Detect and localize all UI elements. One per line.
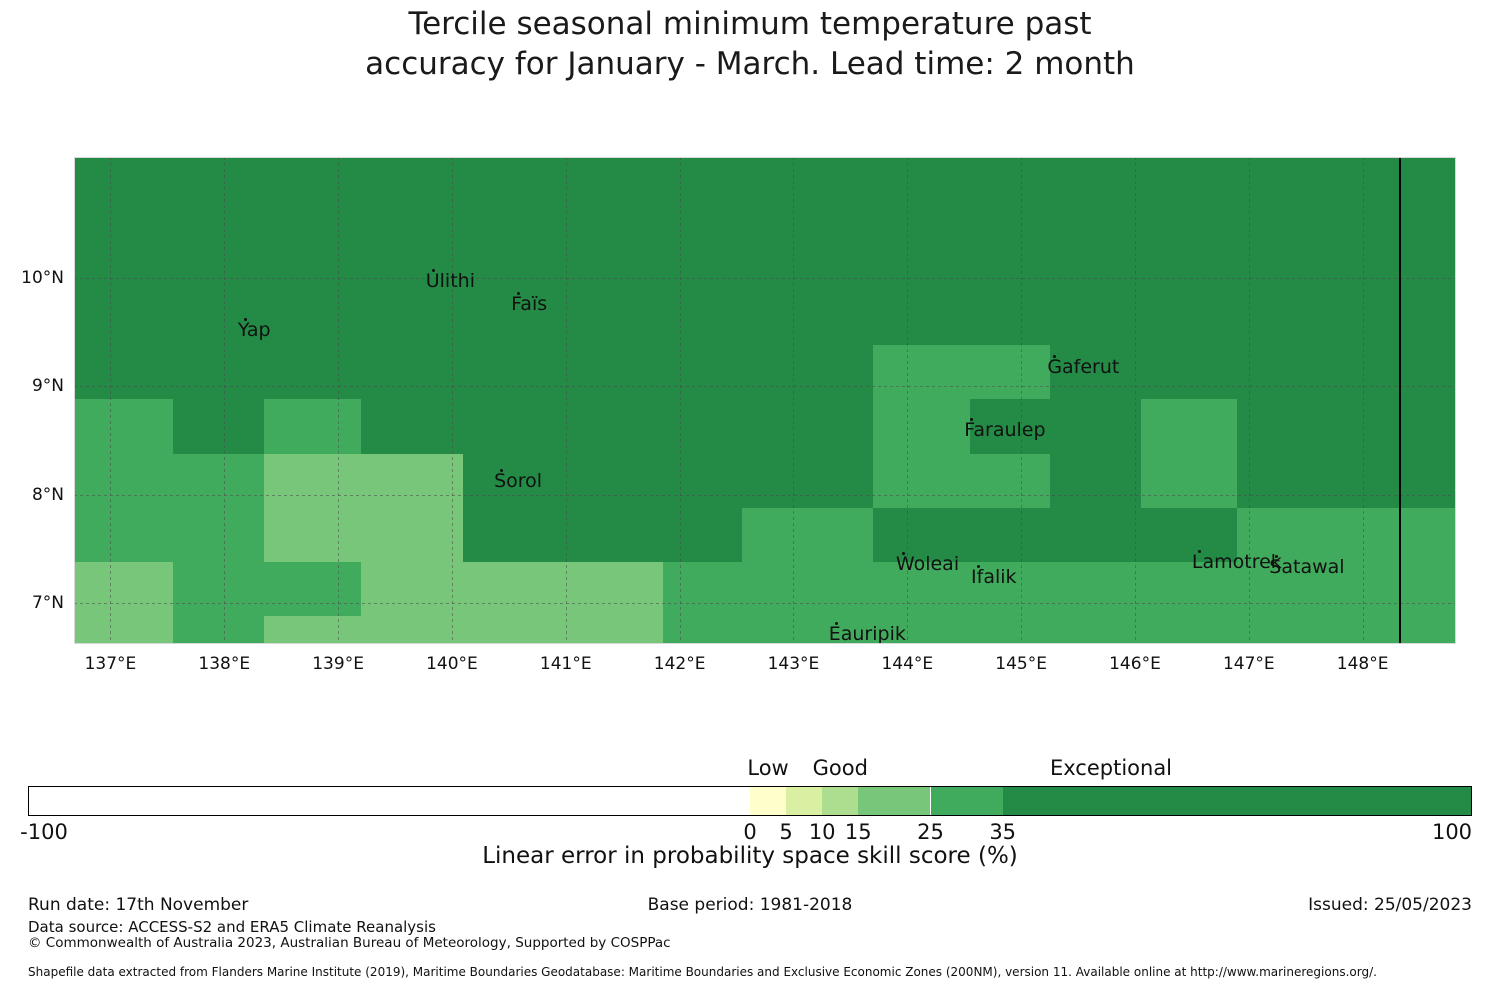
colorbar-tick-label: 15 bbox=[845, 820, 872, 844]
x-axis-tick-label: 147°E bbox=[1223, 654, 1275, 674]
heatmap-cell bbox=[173, 616, 264, 644]
footer-shapefile-note: Shapefile data extracted from Flanders M… bbox=[28, 965, 1377, 979]
heatmap-cell bbox=[74, 157, 1456, 399]
heatmap-cell bbox=[1141, 399, 1238, 507]
x-axis-tick-label: 145°E bbox=[995, 654, 1047, 674]
footer-copyright: © Commonwealth of Australia 2023, Austra… bbox=[28, 935, 671, 951]
footer-issued-date: Issued: 25/05/2023 bbox=[1308, 895, 1472, 915]
colorbar: -1000510152535100 LowGoodExceptional bbox=[28, 786, 1472, 816]
island-label: Woleai bbox=[896, 553, 959, 575]
y-axis-tick-label: 9°N bbox=[0, 376, 64, 396]
colorbar-tick-label: -100 bbox=[20, 820, 68, 844]
x-axis-tick-label: 142°E bbox=[654, 654, 706, 674]
heatmap-cell bbox=[173, 399, 264, 453]
colorbar-tick-label: 35 bbox=[989, 820, 1016, 844]
x-axis-tick-label: 146°E bbox=[1109, 654, 1161, 674]
x-axis-tick-label: 141°E bbox=[540, 654, 592, 674]
x-axis-tick-label: 148°E bbox=[1337, 654, 1389, 674]
island-label: Faraulep bbox=[964, 419, 1045, 441]
heatmap-cell bbox=[173, 562, 361, 616]
x-axis-tick-label: 143°E bbox=[768, 654, 820, 674]
heatmap-cell bbox=[663, 616, 1456, 644]
island-label: Ulithi bbox=[426, 270, 475, 292]
heatmap-cell bbox=[361, 562, 663, 616]
colorbar-tick-label: 10 bbox=[809, 820, 836, 844]
heatmap-cell bbox=[74, 508, 264, 562]
colorbar-tick-label: 25 bbox=[917, 820, 944, 844]
y-axis-tick-label: 10°N bbox=[0, 268, 64, 288]
heatmap-cell bbox=[264, 454, 463, 508]
island-label: Satawal bbox=[1269, 556, 1344, 578]
island-label: Lamotrek bbox=[1192, 551, 1282, 573]
island-label: Ifalik bbox=[971, 566, 1017, 588]
x-axis-tick-label: 140°E bbox=[426, 654, 478, 674]
y-axis-tick-label: 7°N bbox=[0, 593, 64, 613]
heatmap-cell bbox=[74, 454, 264, 508]
heatmap-cell bbox=[264, 399, 361, 453]
eez-boundary-line bbox=[1399, 157, 1401, 644]
x-axis-tick-label: 144°E bbox=[881, 654, 933, 674]
island-label: Eauripik bbox=[829, 623, 906, 644]
map-container: YapUlithiFaïsGaferutFaraulepWoleaiIfalik… bbox=[74, 157, 1456, 644]
heatmap-cell bbox=[264, 508, 463, 562]
x-axis-tick-label: 138°E bbox=[198, 654, 250, 674]
colorbar-tick-label: 5 bbox=[779, 820, 792, 844]
y-axis-tick-label: 8°N bbox=[0, 485, 64, 505]
colorbar-frame bbox=[28, 786, 1472, 816]
heatmap-cell bbox=[873, 399, 970, 507]
page-title: Tercile seasonal minimum temperature pas… bbox=[0, 4, 1500, 84]
colorbar-quality-label: Good bbox=[813, 756, 868, 780]
heatmap-plot-area: YapUlithiFaïsGaferutFaraulepWoleaiIfalik… bbox=[74, 157, 1456, 644]
heatmap-cell bbox=[74, 399, 173, 453]
heatmap-cell bbox=[264, 616, 662, 644]
colorbar-quality-label: Low bbox=[747, 756, 788, 780]
island-label: Yap bbox=[238, 319, 271, 341]
heatmap-cell bbox=[74, 562, 173, 616]
island-label: Sorol bbox=[494, 470, 542, 492]
colorbar-axis-label: Linear error in probability space skill … bbox=[0, 843, 1500, 869]
footer-data-source: Data source: ACCESS-S2 and ERA5 Climate … bbox=[28, 918, 436, 936]
heatmap-cell bbox=[74, 616, 173, 644]
heatmap-cell bbox=[463, 508, 742, 562]
colorbar-tick-label: 100 bbox=[1432, 820, 1472, 844]
colorbar-quality-label: Exceptional bbox=[1050, 756, 1172, 780]
heatmap-cell bbox=[742, 508, 873, 562]
island-label: Gaferut bbox=[1047, 356, 1119, 378]
colorbar-tick-label: 0 bbox=[743, 820, 756, 844]
footer-base-period: Base period: 1981-2018 bbox=[0, 895, 1500, 915]
island-label: Faïs bbox=[511, 293, 547, 315]
x-axis-tick-label: 139°E bbox=[312, 654, 364, 674]
x-axis-tick-label: 137°E bbox=[85, 654, 137, 674]
heatmap-cell bbox=[1050, 454, 1141, 508]
